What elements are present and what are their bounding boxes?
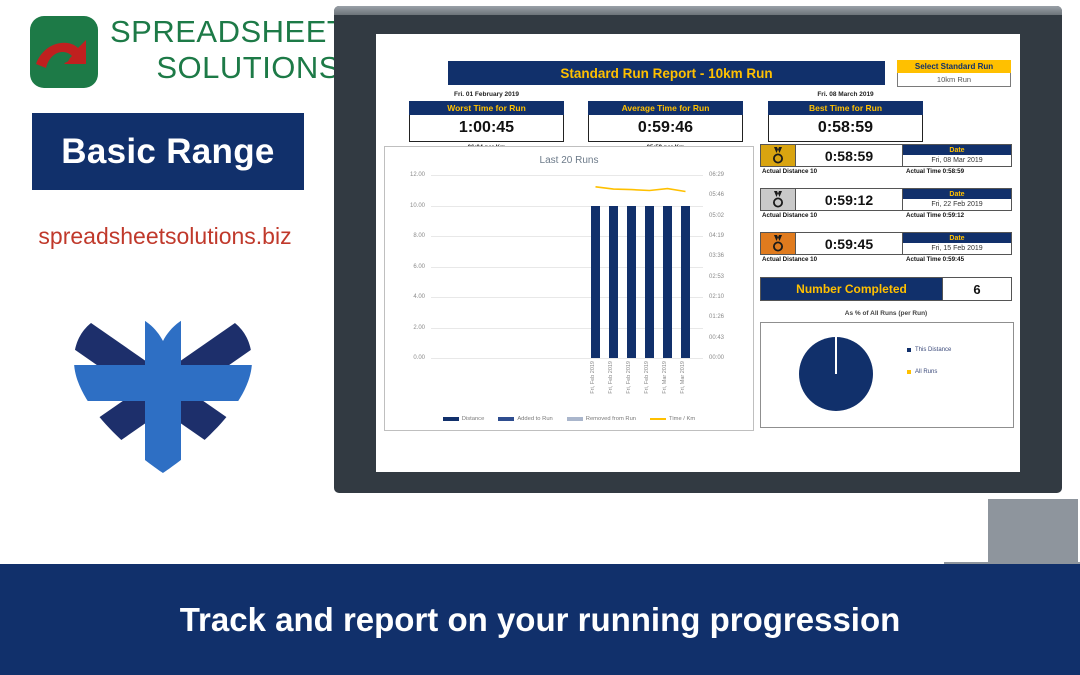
report-title-bar: Standard Run Report - 10km Run <box>448 61 885 85</box>
chart-y-tick-right: 04:19 <box>709 233 724 239</box>
gold-medal-icon <box>760 144 796 167</box>
chart-x-tick: Fri, Feb 2019 <box>644 361 650 394</box>
stat-best-value: 0:58:59 <box>768 115 923 142</box>
monitor-stand-neck <box>988 499 1078 565</box>
chart-x-tick: Fri, Mar 2019 <box>662 361 668 394</box>
chart-legend-label: Time / Km <box>669 416 695 422</box>
chart-y-tick-left: 8.00 <box>413 233 425 239</box>
union-jack-heart-icon <box>68 307 258 477</box>
monitor: Standard Run Report - 10km Run Select St… <box>334 6 1062 493</box>
chart-legend-item: Removed from Run <box>567 416 636 422</box>
pie-legend-swatch <box>907 348 911 352</box>
chart-legend-label: Distance <box>462 416 485 422</box>
tagline-text: Track and report on your running progres… <box>180 601 901 639</box>
range-badge-label: Basic Range <box>61 132 274 172</box>
medal-gold-date-header: Date <box>903 145 1011 155</box>
chart-legend-label: Added to Run <box>517 416 552 422</box>
medal-bronze-actual-time: Actual Time 0:59:45 <box>906 256 1012 263</box>
chart-x-tick: Fri, Feb 2019 <box>626 361 632 394</box>
number-completed-value: 6 <box>943 277 1012 301</box>
pie-chart-circle <box>799 337 873 411</box>
pie-legend-item: All Runs <box>907 369 951 375</box>
medal-glyph-icon <box>771 191 785 209</box>
medal-bronze-date-header: Date <box>903 233 1011 243</box>
stat-worst-header: Worst Time for Run <box>409 101 564 115</box>
chart-plot-area: 0.002.004.006.008.0010.0012.00 00:0000:4… <box>431 175 703 358</box>
medal-bronze-date-value: Fri, 15 Feb 2019 <box>903 243 1011 254</box>
chart-legend-item: Time / Km <box>650 416 695 422</box>
brand-panel: SPREADSHEET SOLUTIONS Basic Range spread… <box>0 0 330 560</box>
chart-y-tick-right: 05:46 <box>709 192 724 198</box>
silver-medal-icon <box>760 188 796 211</box>
chart-legend-item: Added to Run <box>498 416 552 422</box>
medal-gold-date: Date Fri, 08 Mar 2019 <box>903 144 1012 167</box>
stat-average-header: Average Time for Run <box>588 101 743 115</box>
chart-x-tick: Fri, Feb 2019 <box>608 361 614 394</box>
pie-chart-title: As % of All Runs (per Run) <box>760 310 1012 322</box>
medal-glyph-icon <box>771 147 785 165</box>
percent-all-runs-chart: As % of All Runs (per Run) This Distance… <box>760 310 1012 428</box>
stat-best-time: Fri. 08 March 2019 Best Time for Run 0:5… <box>768 91 923 151</box>
medal-silver-date-value: Fri, 22 Feb 2019 <box>903 199 1011 210</box>
pie-slice-divider <box>835 337 837 374</box>
spreadsheet-report: Standard Run Report - 10km Run Select St… <box>376 34 1020 472</box>
medal-glyph-icon <box>771 235 785 253</box>
website-url[interactable]: spreadsheetsolutions.biz <box>0 223 330 250</box>
select-standard-run-value[interactable]: 10km Run <box>897 73 1011 87</box>
bronze-medal-icon <box>760 232 796 255</box>
medal-silver-actual-time: Actual Time 0:59:12 <box>906 212 1012 219</box>
last-20-runs-chart: Last 20 Runs 0.002.004.006.008.0010.0012… <box>384 146 754 431</box>
chart-legend-swatch <box>498 417 514 421</box>
stat-average-date <box>588 91 743 101</box>
stat-average-time: Average Time for Run 0:59:46 05:59 per K… <box>588 91 743 151</box>
chart-legend-swatch <box>443 417 459 421</box>
chart-legend-swatch <box>650 418 666 420</box>
chart-y-tick-right: 03:36 <box>709 253 724 259</box>
logo-swoosh-icon <box>34 34 94 76</box>
chart-x-tick: Fri, Mar 2019 <box>680 361 686 394</box>
pie-legend-swatch <box>907 370 911 374</box>
medal-silver-date-header: Date <box>903 189 1011 199</box>
medal-gold-actual-time: Actual Time 0:58:59 <box>906 168 1012 175</box>
pie-chart-legend: This DistanceAll Runs <box>907 347 951 391</box>
chart-legend: DistanceAdded to RunRemoved from RunTime… <box>385 416 753 422</box>
logo-wordmark: SPREADSHEET SOLUTIONS <box>110 14 350 86</box>
chart-y-tick-left: 12.00 <box>410 172 425 178</box>
chart-y-tick-left: 4.00 <box>413 294 425 300</box>
medal-card-bronze: 0:59:45 Date Fri, 15 Feb 2019 Actual Dis… <box>760 232 1012 264</box>
chart-y-tick-left: 10.00 <box>410 203 425 209</box>
medal-bronze-date: Date Fri, 15 Feb 2019 <box>903 232 1012 255</box>
chart-legend-item: Distance <box>443 416 485 422</box>
chart-gridline <box>431 358 703 359</box>
pie-legend-item: This Distance <box>907 347 951 353</box>
spreadsheet-solutions-logo-icon <box>30 16 98 88</box>
chart-y-tick-left: 0.00 <box>413 355 425 361</box>
stat-worst-value: 1:00:45 <box>409 115 564 142</box>
chart-y-tick-right: 02:53 <box>709 274 724 280</box>
medal-silver-time: 0:59:12 <box>796 188 903 211</box>
medal-bronze-distance: Actual Distance 10 <box>760 256 906 263</box>
pie-legend-label: All Runs <box>915 369 937 375</box>
chart-y-tick-right: 05:02 <box>709 213 724 219</box>
range-badge: Basic Range <box>32 113 304 190</box>
medal-gold-time: 0:58:59 <box>796 144 903 167</box>
chart-y-tick-right: 06:29 <box>709 172 724 178</box>
monitor-top-strip <box>334 6 1062 15</box>
chart-legend-label: Removed from Run <box>586 416 636 422</box>
tagline-banner: Track and report on your running progres… <box>0 564 1080 675</box>
stat-best-header: Best Time for Run <box>768 101 923 115</box>
company-logo: SPREADSHEET SOLUTIONS <box>30 14 320 102</box>
select-standard-run-label: Select Standard Run <box>897 60 1011 73</box>
logo-line-1: SPREADSHEET <box>110 14 350 50</box>
monitor-screen: Standard Run Report - 10km Run Select St… <box>376 34 1020 472</box>
chart-y-tick-right: 00:43 <box>709 335 724 341</box>
medal-silver-distance: Actual Distance 10 <box>760 212 906 219</box>
stat-average-value: 0:59:46 <box>588 115 743 142</box>
logo-line-2: SOLUTIONS <box>110 50 350 86</box>
pie-legend-label: This Distance <box>915 347 951 353</box>
stat-worst-date: Fri. 01 February 2019 <box>409 91 564 101</box>
chart-legend-swatch <box>567 417 583 421</box>
chart-time-per-km-line <box>431 175 703 358</box>
pie-chart-box: This DistanceAll Runs <box>760 322 1014 428</box>
medal-card-gold: 0:58:59 Date Fri, 08 Mar 2019 Actual Dis… <box>760 144 1012 176</box>
medal-silver-date: Date Fri, 22 Feb 2019 <box>903 188 1012 211</box>
chart-y-tick-right: 00:00 <box>709 355 724 361</box>
chart-y-tick-right: 02:10 <box>709 294 724 300</box>
stat-best-date: Fri. 08 March 2019 <box>768 91 923 101</box>
medal-gold-distance: Actual Distance 10 <box>760 168 906 175</box>
chart-x-tick: Fri, Feb 2019 <box>590 361 596 394</box>
medal-gold-date-value: Fri, 08 Mar 2019 <box>903 155 1011 166</box>
number-completed: Number Completed 6 <box>760 277 1012 301</box>
chart-y-tick-right: 01:26 <box>709 314 724 320</box>
medal-card-silver: 0:59:12 Date Fri, 22 Feb 2019 Actual Dis… <box>760 188 1012 220</box>
chart-title: Last 20 Runs <box>385 155 753 166</box>
chart-y-tick-left: 2.00 <box>413 325 425 331</box>
page-title: Standard Run Report - 10km Run <box>560 66 772 81</box>
medal-bronze-time: 0:59:45 <box>796 232 903 255</box>
chart-y-tick-left: 6.00 <box>413 264 425 270</box>
stat-worst-time: Fri. 01 February 2019 Worst Time for Run… <box>409 91 564 151</box>
select-standard-run[interactable]: Select Standard Run 10km Run <box>897 60 1011 87</box>
number-completed-label: Number Completed <box>760 277 943 301</box>
